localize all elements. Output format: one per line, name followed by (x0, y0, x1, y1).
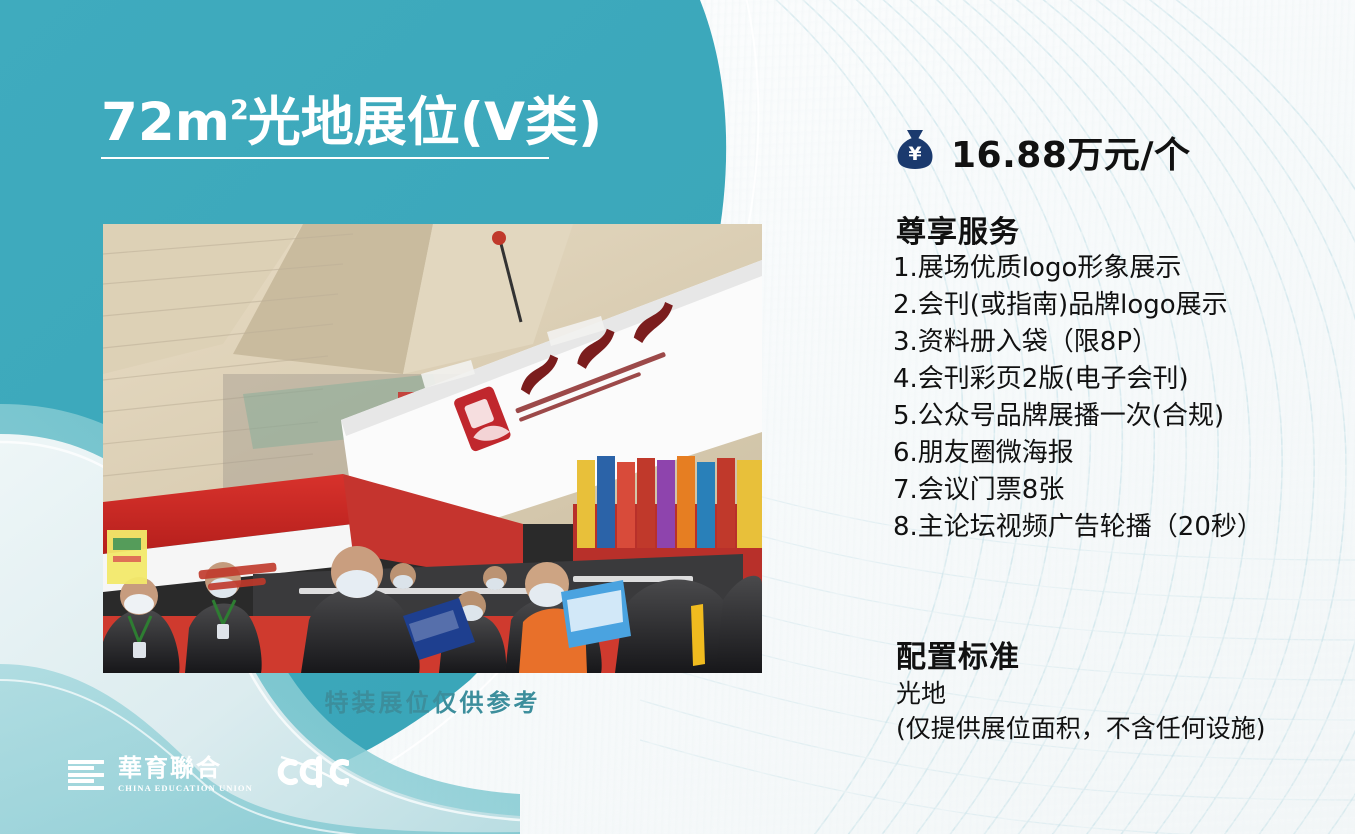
title-unit-superscript: 2 (230, 95, 248, 126)
title-rest: 光地展位(V类) (248, 92, 602, 153)
price-value: 16.88万元/个 (951, 126, 1191, 178)
brand-name-cn: 華育聯合 (118, 756, 253, 780)
slide-root: 72m2光地展位(V类) (0, 0, 1355, 834)
config-line: 光地 (896, 676, 1341, 711)
brand-logo: 華育聯合 CHINA EDUCATION UNION (68, 755, 349, 794)
exhibition-booth-photo (103, 224, 762, 673)
list-item: 2.会刊(或指南)品牌logo展示 (893, 287, 1338, 324)
list-item: 5.公众号品牌展播一次(合规) (893, 398, 1338, 435)
page-title: 72m2光地展位(V类) (101, 94, 602, 159)
photo-caption: 特装展位仅供参考 (103, 683, 762, 718)
list-item: 3.资料册入袋（限8P） (893, 324, 1338, 361)
cdc-logo-icon (273, 755, 349, 794)
list-item: 6.朋友圈微海报 (893, 435, 1338, 472)
config-lines: 光地 (仅提供展位面积，不含任何设施) (896, 676, 1341, 746)
list-item: 4.会刊彩页2版(电子会刊) (893, 361, 1338, 398)
list-item: 1.展场优质logo形象展示 (893, 250, 1338, 287)
list-item: 8.主论坛视频广告轮播（20秒） (893, 509, 1338, 546)
services-list: 1.展场优质logo形象展示 2.会刊(或指南)品牌logo展示 3.资料册入袋… (893, 250, 1338, 546)
svg-text:¥: ¥ (908, 143, 921, 165)
right-content-column: ¥ 16.88万元/个 尊享服务 1.展场优质logo形象展示 2.会刊(或指南… (893, 0, 1338, 834)
config-line: (仅提供展位面积，不含任何设施) (896, 711, 1341, 746)
price-row: ¥ 16.88万元/个 (893, 126, 1191, 178)
title-area-number: 72 (101, 92, 175, 153)
title-underline (101, 157, 549, 159)
services-heading: 尊享服务 (896, 207, 1020, 251)
brand-bars-icon (68, 760, 104, 790)
config-heading: 配置标准 (896, 632, 1020, 676)
page-title-text: 72m2光地展位(V类) (101, 94, 602, 151)
brand-text-block: 華育聯合 CHINA EDUCATION UNION (118, 756, 253, 793)
list-item: 7.会议门票8张 (893, 472, 1338, 509)
brand-name-en: CHINA EDUCATION UNION (118, 784, 253, 793)
money-bag-icon: ¥ (893, 127, 937, 178)
title-unit: m (175, 92, 230, 153)
